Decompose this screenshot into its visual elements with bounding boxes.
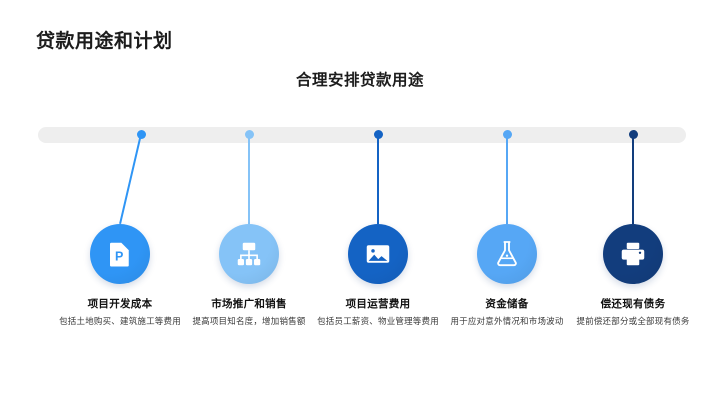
file-presentation-icon: P bbox=[105, 239, 135, 269]
slide-canvas: 贷款用途和计划 合理安排贷款用途 P项目开发成本包括土地购买、建筑施工等费用市场… bbox=[0, 0, 720, 404]
slide-subtitle: 合理安排贷款用途 bbox=[0, 68, 720, 90]
node-connector-stem bbox=[377, 134, 379, 224]
node-rail-dot[interactable] bbox=[503, 130, 512, 139]
node-description: 包括员工薪资、物业管理等费用 bbox=[304, 315, 452, 328]
org-chart-icon bbox=[234, 239, 264, 269]
node-icon-circle-5[interactable] bbox=[603, 224, 663, 284]
node-rail-dot[interactable] bbox=[629, 130, 638, 139]
printer-icon bbox=[618, 239, 648, 269]
page-title: 贷款用途和计划 bbox=[36, 26, 173, 53]
node-icon-circle-3[interactable] bbox=[348, 224, 408, 284]
node-connector-stem bbox=[506, 134, 508, 224]
node-heading: 市场推广和销售 bbox=[175, 297, 323, 311]
node-description: 包括土地购买、建筑施工等费用 bbox=[46, 315, 194, 328]
node-connector-stem bbox=[248, 134, 250, 224]
node-description: 提高项目知名度，增加销售额 bbox=[175, 315, 323, 328]
node-rail-dot[interactable] bbox=[374, 130, 383, 139]
node-text-block: 市场推广和销售提高项目知名度，增加销售额 bbox=[175, 297, 323, 328]
node-heading: 项目开发成本 bbox=[46, 297, 194, 311]
flask-beaker-icon bbox=[491, 238, 523, 270]
node-icon-circle-2[interactable] bbox=[219, 224, 279, 284]
node-text-block: 项目运营费用包括员工薪资、物业管理等费用 bbox=[304, 297, 452, 328]
node-icon-circle-4[interactable] bbox=[477, 224, 537, 284]
node-rail-dot[interactable] bbox=[245, 130, 254, 139]
node-heading: 偿还现有债务 bbox=[559, 297, 707, 311]
node-connector-stem bbox=[632, 134, 634, 224]
node-text-block: 项目开发成本包括土地购买、建筑施工等费用 bbox=[46, 297, 194, 328]
node-description: 提前偿还部分或全部现有债务 bbox=[559, 315, 707, 328]
timeline-rail bbox=[38, 127, 686, 143]
node-connector-stem bbox=[119, 134, 142, 224]
image-photo-icon bbox=[363, 239, 393, 269]
svg-text:P: P bbox=[115, 249, 123, 263]
node-rail-dot[interactable] bbox=[137, 130, 146, 139]
node-icon-circle-1[interactable]: P bbox=[90, 224, 150, 284]
node-heading: 项目运营费用 bbox=[304, 297, 452, 311]
node-text-block: 偿还现有债务提前偿还部分或全部现有债务 bbox=[559, 297, 707, 328]
